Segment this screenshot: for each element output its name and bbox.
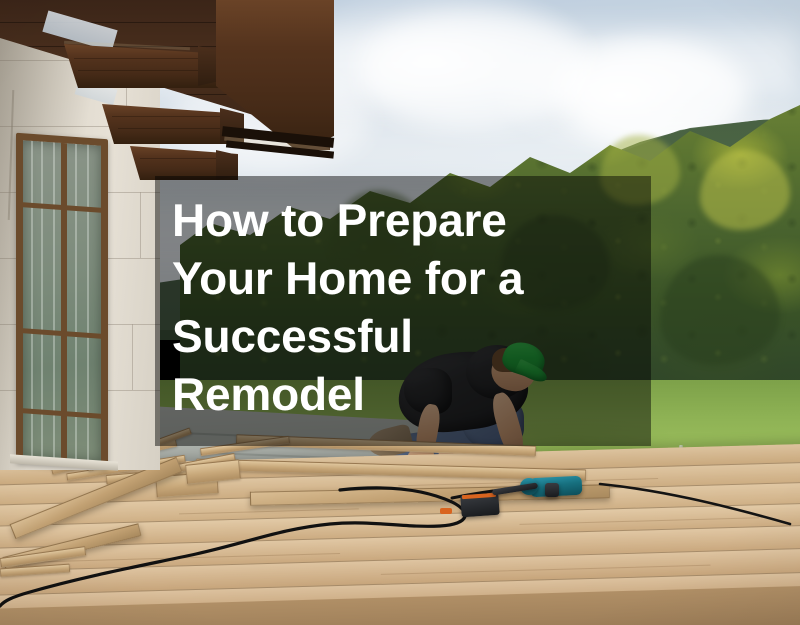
page-title: How to Prepare Your Home for a Successfu… — [172, 191, 642, 423]
title-line-4: Remodel — [172, 365, 642, 423]
cordless-impact-driver-grip — [545, 483, 559, 497]
title-line-1: How to Prepare — [172, 191, 642, 249]
title-line-2: Your Home for a — [172, 249, 642, 307]
timber-window — [16, 133, 108, 469]
beam-grain-line — [118, 128, 234, 129]
tool-plug-tip — [440, 508, 452, 514]
beam-grain-line — [74, 58, 214, 59]
hero-image-canvas: How to Prepare Your Home for a Successfu… — [0, 0, 800, 625]
beam-grain-line — [112, 116, 236, 117]
title-line-3: Successful — [172, 307, 642, 365]
beam-grain-line — [78, 70, 210, 71]
